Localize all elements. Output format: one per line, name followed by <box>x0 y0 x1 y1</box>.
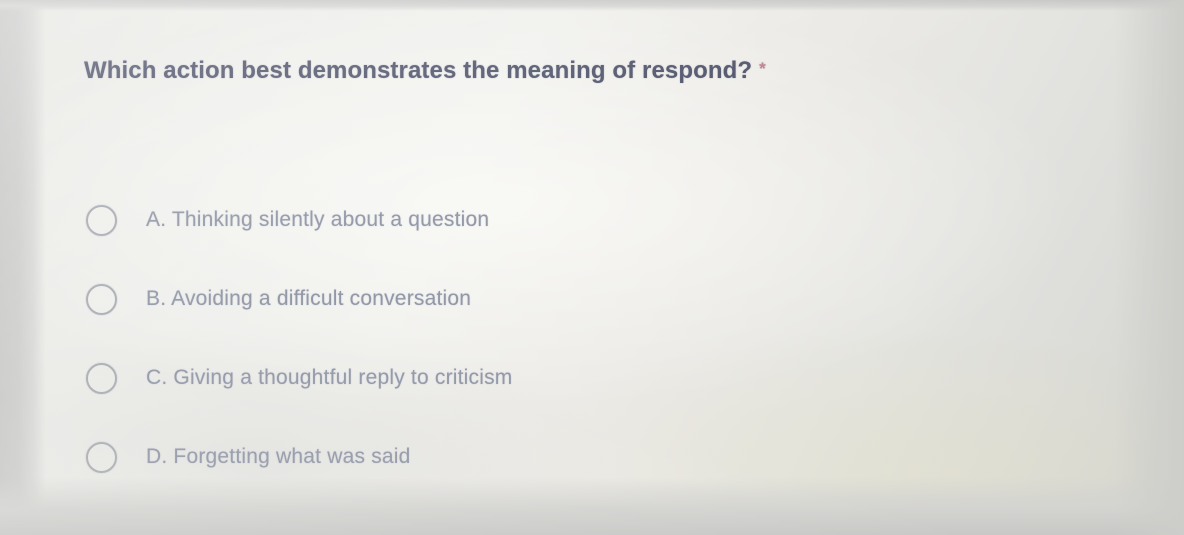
question-title: Which action best demonstrates the meani… <box>84 57 766 85</box>
required-asterisk-icon: * <box>759 59 766 78</box>
quiz-screen: Which action best demonstrates the meani… <box>0 0 1184 535</box>
option-b-label[interactable]: B. Avoiding a difficult conversation <box>146 287 471 311</box>
radio-button-a-icon[interactable] <box>86 205 117 236</box>
option-b-row[interactable]: B. Avoiding a difficult conversation <box>86 275 513 323</box>
option-d-label[interactable]: D. Forgetting what was said <box>146 445 411 469</box>
question-card: Which action best demonstrates the meani… <box>0 0 1184 535</box>
option-a-row[interactable]: A. Thinking silently about a question <box>86 196 513 244</box>
question-text: Which action best demonstrates the meani… <box>84 57 752 84</box>
radio-button-b-icon[interactable] <box>86 284 117 315</box>
radio-button-d-icon[interactable] <box>86 442 117 473</box>
option-d-row[interactable]: D. Forgetting what was said <box>86 433 513 481</box>
option-a-label[interactable]: A. Thinking silently about a question <box>146 208 489 232</box>
answer-options-list: A. Thinking silently about a question B.… <box>86 196 513 512</box>
radio-button-c-icon[interactable] <box>86 363 117 394</box>
option-c-label[interactable]: C. Giving a thoughtful reply to criticis… <box>146 366 513 390</box>
option-c-row[interactable]: C. Giving a thoughtful reply to criticis… <box>86 354 513 402</box>
